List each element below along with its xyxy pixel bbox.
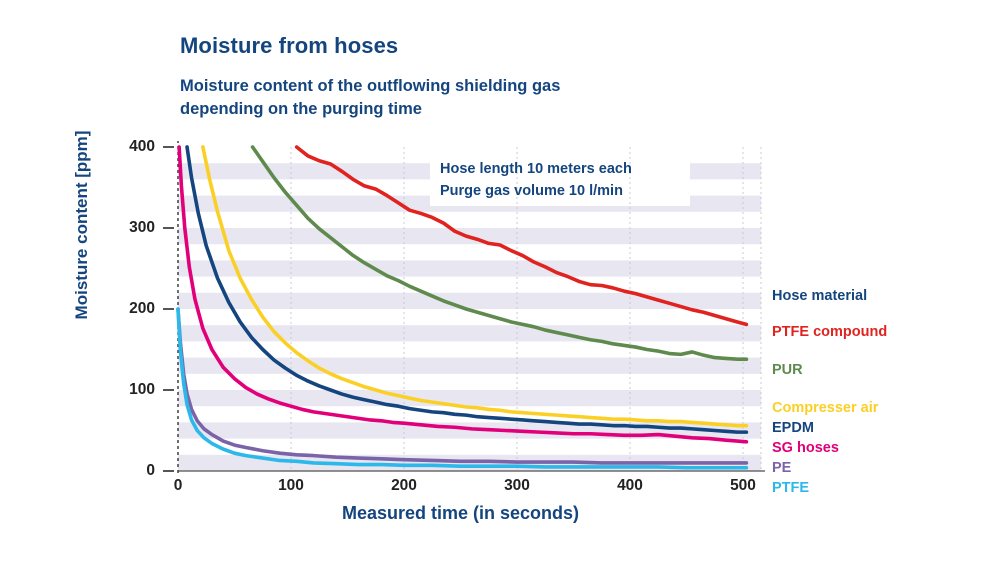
x-tick-label: 500 <box>713 477 773 495</box>
annotation-line-2: Purge gas volume 10 l/min <box>440 180 632 202</box>
legend-heading: Hose material <box>772 288 992 304</box>
x-tick-label: 100 <box>261 477 321 495</box>
legend-item-ptfe-compound[interactable]: PTFE compound <box>772 324 992 340</box>
legend-item-pur[interactable]: PUR <box>772 362 992 378</box>
legend-item-pe[interactable]: PE <box>772 460 992 476</box>
legend-item-epdm[interactable]: EPDM <box>772 420 992 436</box>
x-tick-label: 0 <box>148 477 208 495</box>
band-stripe <box>178 358 761 374</box>
chart-legend: Hose material PTFE compoundPURCompresser… <box>772 288 992 496</box>
band-stripe <box>178 260 761 276</box>
legend-item-sg-hoses[interactable]: SG hoses <box>772 440 992 456</box>
x-tick-label: 300 <box>487 477 547 495</box>
x-tick-label: 400 <box>600 477 660 495</box>
x-axis-label: Measured time (in seconds) <box>178 503 743 524</box>
legend-item-list: PTFE compoundPURCompresser airEPDMSG hos… <box>772 324 992 496</box>
band-stripe <box>178 325 761 341</box>
band-stripe <box>178 293 761 309</box>
y-axis-label: Moisture content [ppm] <box>72 95 92 355</box>
legend-item-compresser-air[interactable]: Compresser air <box>772 400 992 416</box>
chart-annotation: Hose length 10 meters each Purge gas vol… <box>440 158 632 202</box>
chart-page: Moisture from hoses Moisture content of … <box>0 0 1000 583</box>
x-tick-label: 200 <box>374 477 434 495</box>
plot-background-bands <box>178 163 761 471</box>
legend-item-ptfe[interactable]: PTFE <box>772 480 992 496</box>
annotation-line-1: Hose length 10 meters each <box>440 158 632 180</box>
